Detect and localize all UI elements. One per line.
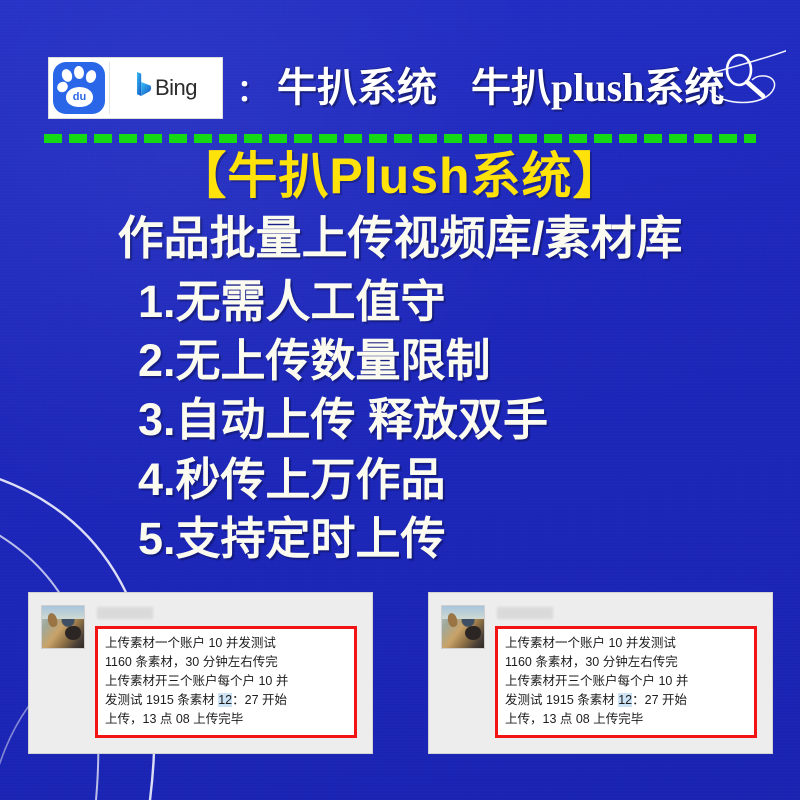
message-line-2: 1160 条素材，30 分钟左右传完 xyxy=(505,653,747,672)
chat-message-bubble: 上传素材一个账户 10 并发测试 1160 条素材，30 分钟左右传完 上传素材… xyxy=(495,626,757,738)
avatar-muzzle xyxy=(465,626,481,640)
baidu-logo-icon[interactable]: du xyxy=(53,62,105,114)
baidu-paw-toe-3 xyxy=(84,69,97,84)
poster-canvas: du Bing ： 牛扒系统 牛扒plush系统 xyxy=(0,0,800,800)
page-subtitle: 作品批量上传视频库/素材库 xyxy=(0,210,800,268)
highlighted-token: 12 xyxy=(218,693,232,707)
feature-item-5: 5.支持定时上传 xyxy=(138,509,800,568)
message-line-5: 上传，13 点 08 上传完毕 xyxy=(505,710,747,729)
avatar xyxy=(41,605,85,649)
chat-message-bubble: 上传素材一个账户 10 并发测试 1160 条素材，30 分钟左右传完 上传素材… xyxy=(95,626,357,738)
search-engine-logos: du Bing xyxy=(48,57,223,119)
feature-list: 1.无需人工值守 2.无上传数量限制 3.自动上传 释放双手 4.秒传上万作品 … xyxy=(138,272,800,569)
header-title-primary: 牛扒系统 xyxy=(277,68,437,108)
message-line-1: 上传素材一个账户 10 并发测试 xyxy=(105,634,347,653)
avatar xyxy=(441,605,485,649)
chat-nickname xyxy=(97,607,153,619)
message-line-1: 上传素材一个账户 10 并发测试 xyxy=(505,634,747,653)
baidu-logo-label: du xyxy=(66,87,93,107)
avatar-muzzle xyxy=(65,626,81,640)
page-title: 【牛扒Plush系统】 xyxy=(0,150,800,202)
feature-item-4: 4.秒传上万作品 xyxy=(138,450,800,509)
message-line-3: 上传素材开三个账户每个户 10 并 xyxy=(105,672,347,691)
bing-logo-label: Bing xyxy=(155,75,197,101)
feature-item-3: 3.自动上传 释放双手 xyxy=(138,390,800,449)
feature-item-1: 1.无需人工值守 xyxy=(138,272,800,331)
message-line-2: 1160 条素材，30 分钟左右传完 xyxy=(105,653,347,672)
message-line-3: 上传素材开三个账户每个户 10 并 xyxy=(505,672,747,691)
highlighted-token: 12 xyxy=(618,693,632,707)
message-line-5: 上传，13 点 08 上传完毕 xyxy=(105,710,347,729)
header-bar: du Bing ： 牛扒系统 牛扒plush系统 xyxy=(0,42,800,134)
chat-nickname xyxy=(497,607,553,619)
main-content: 【牛扒Plush系统】 作品批量上传视频库/素材库 1.无需人工值守 2.无上传… xyxy=(0,150,800,568)
bing-logo-icon[interactable]: Bing xyxy=(109,62,222,114)
feature-item-2: 2.无上传数量限制 xyxy=(138,331,800,390)
header-separator-colon: ： xyxy=(237,66,267,110)
message-line-4: 发测试 1915 条素材 12：27 开始 xyxy=(505,691,747,710)
green-dashed-divider xyxy=(44,134,756,143)
header-title-secondary: 牛扒plush系统 xyxy=(471,68,724,108)
message-line-4: 发测试 1915 条素材 12：27 开始 xyxy=(105,691,347,710)
chat-screenshot-card-left: 上传素材一个账户 10 并发测试 1160 条素材，30 分钟左右传完 上传素材… xyxy=(28,592,373,754)
baidu-paw-toe-2 xyxy=(73,66,84,80)
bing-mark-icon xyxy=(135,71,152,105)
search-icon[interactable] xyxy=(708,46,786,116)
chat-screenshot-card-right: 上传素材一个账户 10 并发测试 1160 条素材，30 分钟左右传完 上传素材… xyxy=(428,592,773,754)
